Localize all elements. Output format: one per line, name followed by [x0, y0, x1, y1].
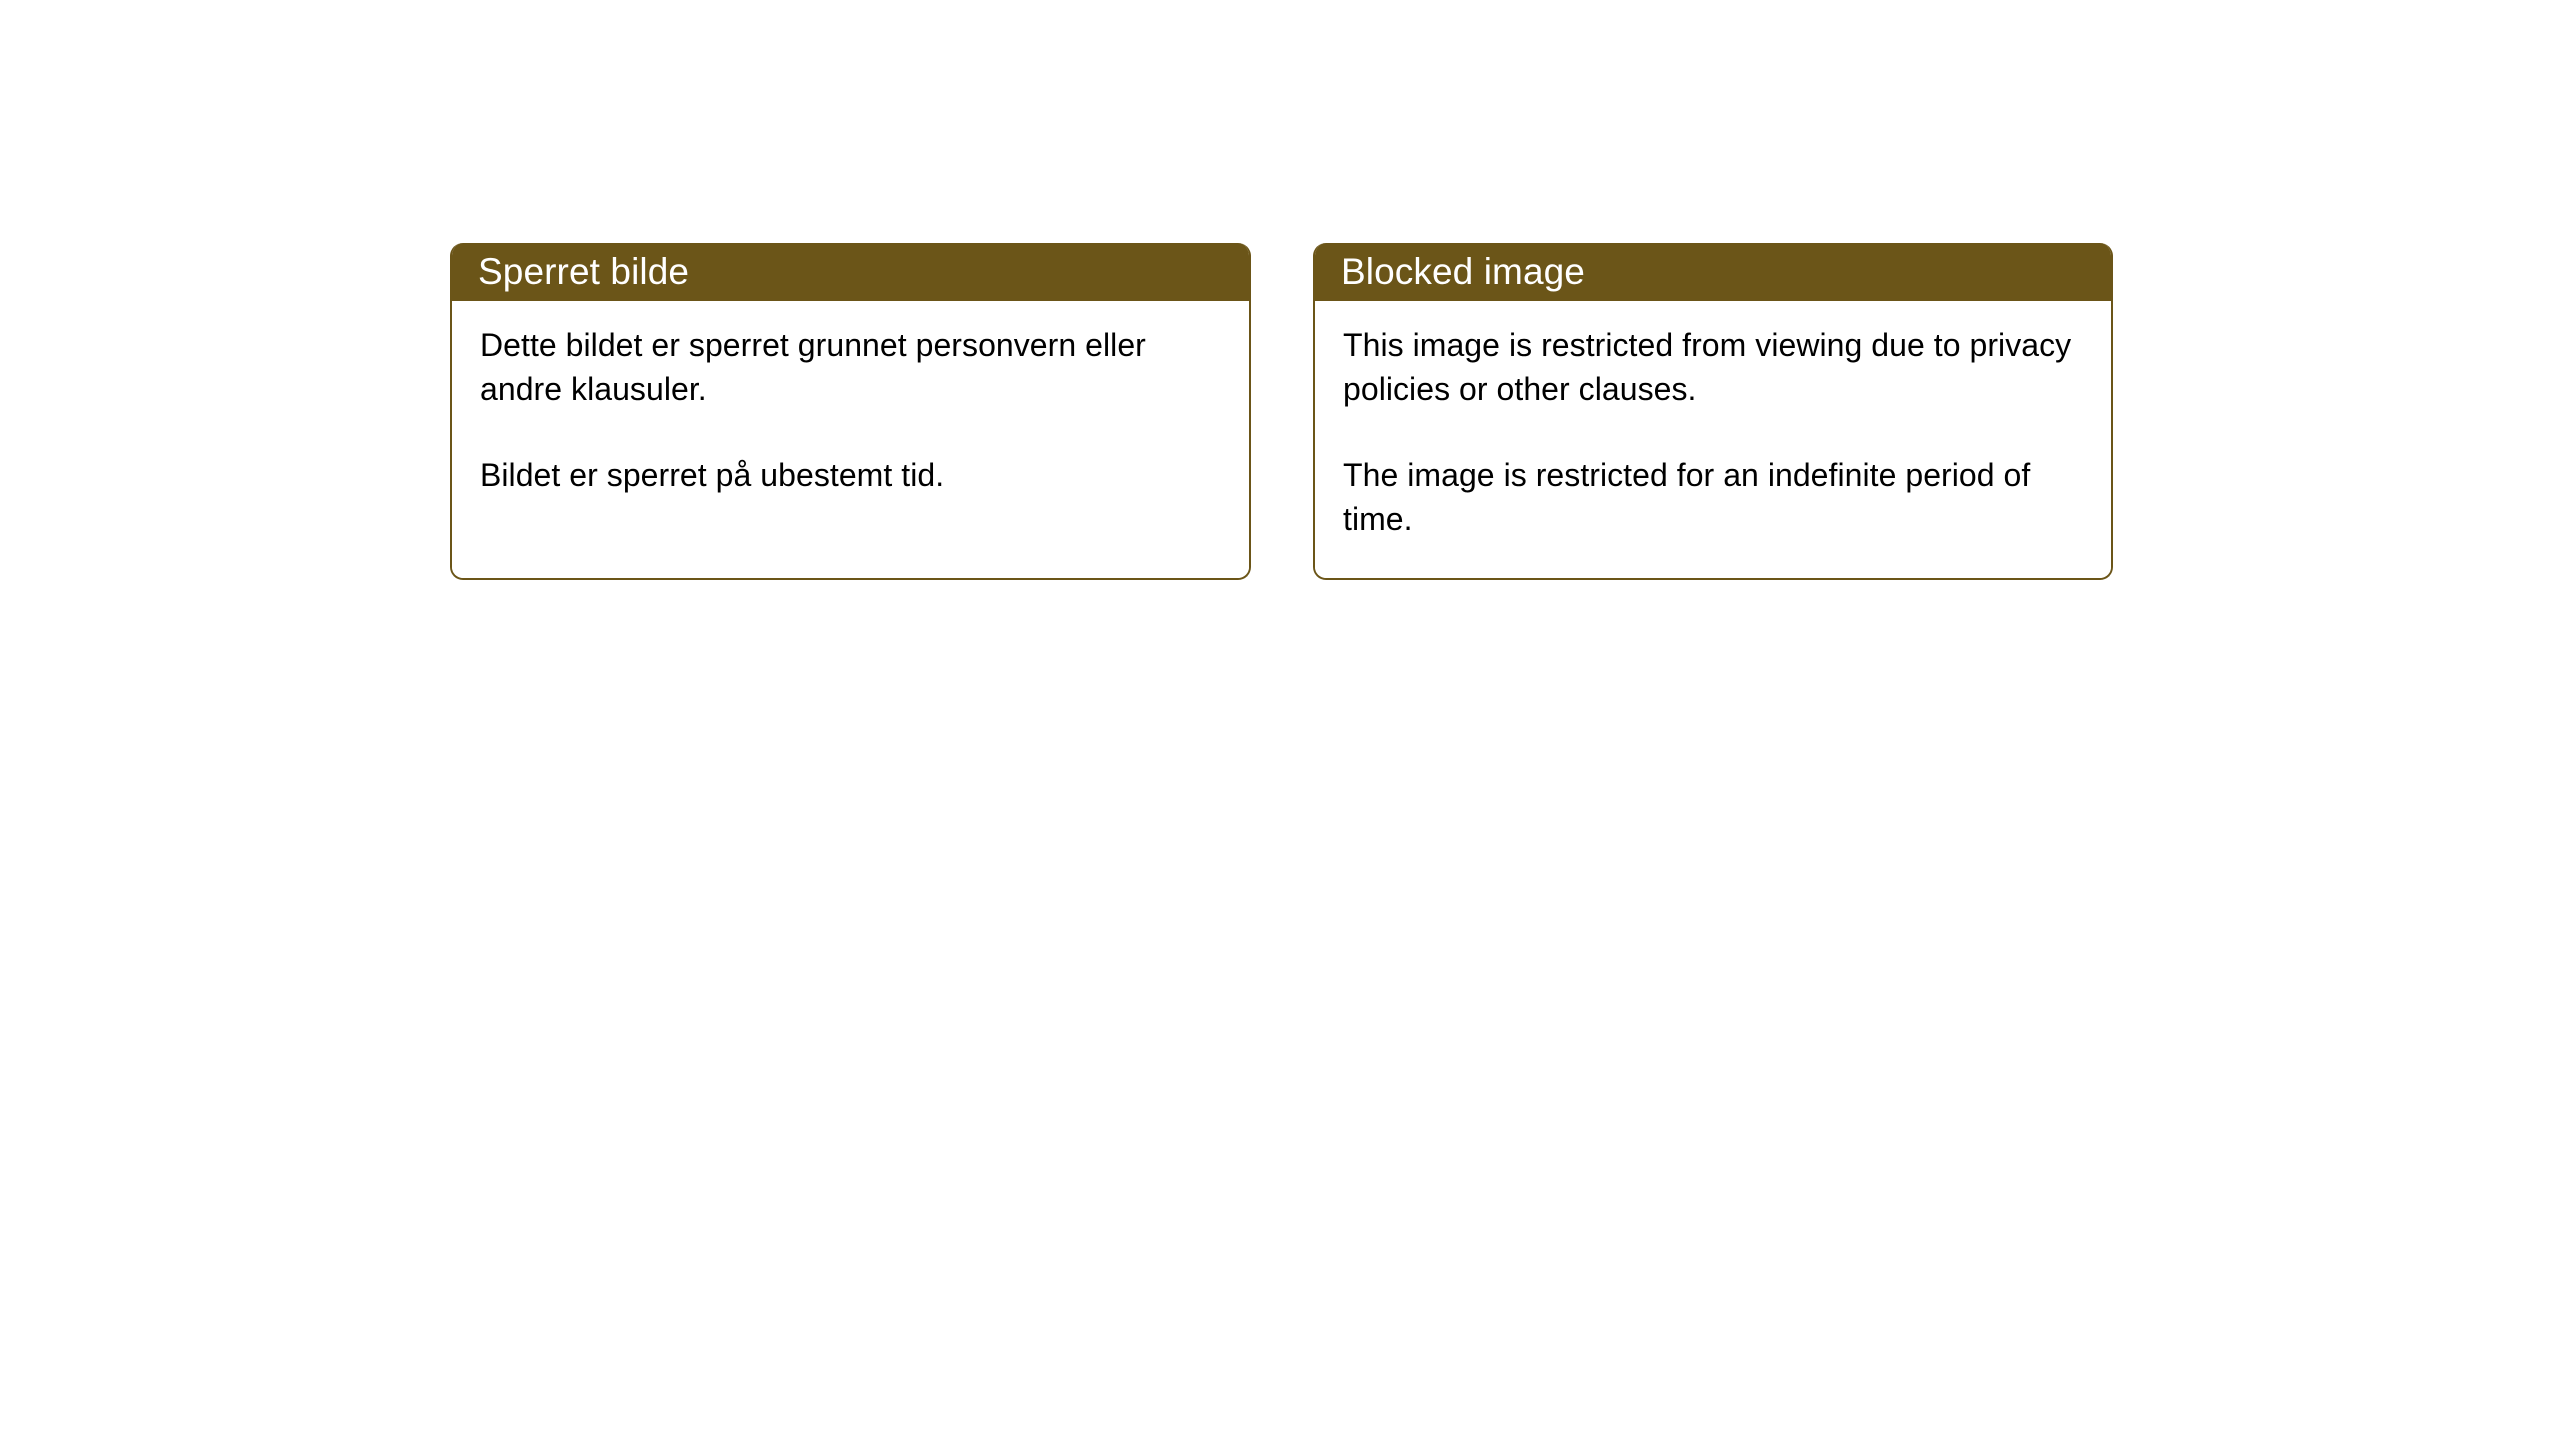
blocked-image-notice-card-en: Blocked image This image is restricted f… [1313, 243, 2113, 580]
notice-card-header-no: Sperret bilde [450, 243, 1251, 301]
notice-card-title-no: Sperret bilde [478, 252, 689, 292]
notice-card-body-en: This image is restricted from viewing du… [1315, 301, 2111, 578]
blocked-image-notice-card-no: Sperret bilde Dette bildet er sperret gr… [450, 243, 1251, 580]
notice-card-header-en: Blocked image [1313, 243, 2113, 301]
notice-card-title-en: Blocked image [1341, 252, 1585, 292]
notice-paragraph: Bildet er sperret på ubestemt tid. [480, 453, 1225, 497]
notice-paragraph: Dette bildet er sperret grunnet personve… [480, 323, 1225, 411]
notice-card-row: Sperret bilde Dette bildet er sperret gr… [450, 243, 2113, 580]
notice-card-body-no: Dette bildet er sperret grunnet personve… [452, 301, 1249, 578]
notice-paragraph: This image is restricted from viewing du… [1343, 323, 2087, 411]
notice-paragraph: The image is restricted for an indefinit… [1343, 453, 2087, 541]
page-canvas: Sperret bilde Dette bildet er sperret gr… [0, 0, 2560, 1440]
